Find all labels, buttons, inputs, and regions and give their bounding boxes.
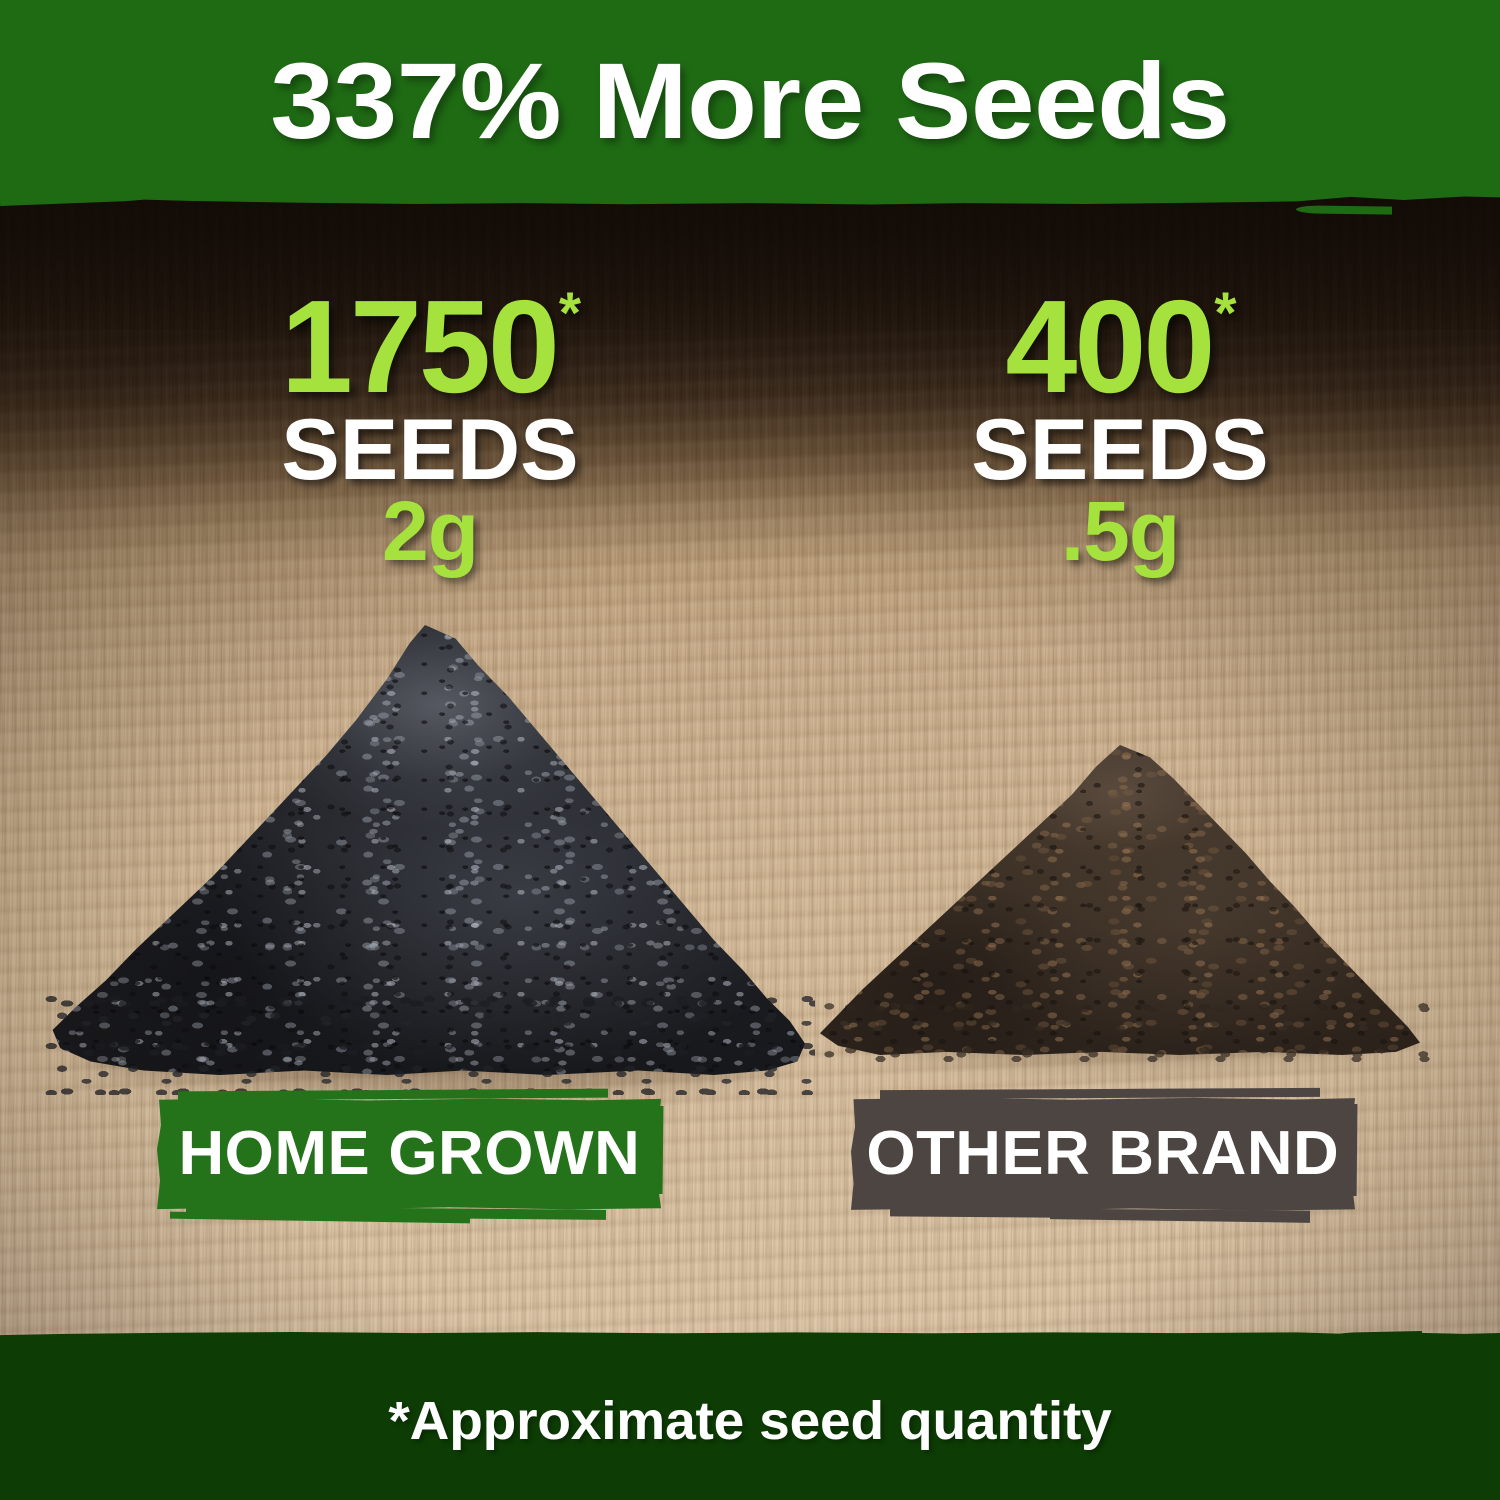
home-grown-seed-count-value: 1750 bbox=[281, 273, 557, 420]
footnote-text: *Approximate seed quantity bbox=[0, 1393, 1500, 1450]
other-brand-seed-count-value: 400 bbox=[1005, 273, 1212, 420]
home-grown-weight: 2g bbox=[180, 493, 680, 570]
other-brand-seeds-label: SEEDS bbox=[875, 411, 1365, 490]
home-grown-seed-count: 1750* bbox=[185, 286, 675, 407]
footer-brush-flick-right-icon bbox=[1330, 1331, 1422, 1342]
header-brush-flick-right-icon bbox=[1296, 205, 1392, 214]
other-brand-seed-count: 400* bbox=[885, 286, 1355, 407]
home-grown-asterisk-icon: * bbox=[559, 281, 581, 346]
other-brand-label-text: OTHER BRAND bbox=[867, 1123, 1340, 1185]
other-brand-asterisk-icon: * bbox=[1214, 281, 1236, 346]
other-brand-label-box: OTHER BRAND bbox=[851, 1097, 1355, 1211]
page-title: 337% More Seeds bbox=[0, 47, 1500, 155]
infographic-canvas: 337% More Seeds 1750* SEEDS 2g 400* SEED… bbox=[0, 0, 1500, 1500]
wood-table-background-photo bbox=[0, 0, 1500, 1500]
home-grown-label-text: HOME GROWN bbox=[178, 1123, 640, 1185]
home-grown-label-box: HOME GROWN bbox=[157, 1098, 661, 1210]
other-brand-box-brush-stroke-right bbox=[1349, 1104, 1358, 1196]
other-brand-stat-column: 400* SEEDS .5g bbox=[880, 286, 1360, 570]
home-grown-seeds-label: SEEDS bbox=[175, 411, 685, 490]
home-grown-stat-column: 1750* SEEDS 2g bbox=[180, 286, 680, 570]
edge-vignette bbox=[0, 0, 1500, 1500]
home-grown-box-brush-stroke-right bbox=[655, 1106, 664, 1194]
other-brand-weight: .5g bbox=[880, 493, 1360, 570]
